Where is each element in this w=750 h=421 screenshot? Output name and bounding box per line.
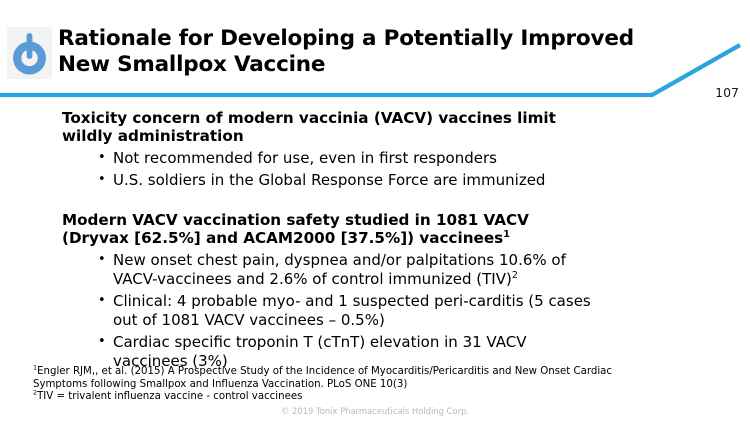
content-block-toxicity: Toxicity concern of modern vaccinia (VAC…	[62, 110, 702, 190]
block-heading: Toxicity concern of modern vaccinia (VAC…	[62, 110, 702, 145]
list-item: U.S. soldiers in the Global Response For…	[98, 171, 702, 190]
slide-header: Rationale for Developing a Potentially I…	[0, 0, 750, 108]
page-title: Rationale for Developing a Potentially I…	[58, 26, 658, 78]
list-item: Not recommended for use, even in first r…	[98, 149, 702, 168]
footnote-1: 1Engler RJM,, et al. (2015) A Prospectiv…	[33, 366, 723, 391]
page-number: 107	[715, 85, 739, 100]
list-item: Clinical: 4 probable myo- and 1 suspecte…	[98, 292, 702, 330]
block-spacer	[62, 193, 702, 212]
list-item: New onset chest pain, dyspnea and/or pal…	[98, 251, 702, 289]
slide: Rationale for Developing a Potentially I…	[0, 0, 750, 421]
content-block-safety-study: Modern VACV vaccination safety studied i…	[62, 212, 702, 371]
bullet-list: Not recommended for use, even in first r…	[62, 149, 702, 190]
block-heading: Modern VACV vaccination safety studied i…	[62, 212, 702, 247]
slide-body: Toxicity concern of modern vaccinia (VAC…	[62, 110, 702, 374]
bullet-list: New onset chest pain, dyspnea and/or pal…	[62, 251, 702, 371]
tonix-power-button-logo-icon	[7, 27, 52, 79]
copyright-notice: © 2019 Tonix Pharmaceuticals Holding Cor…	[0, 406, 750, 416]
footnotes: 1Engler RJM,, et al. (2015) A Prospectiv…	[33, 366, 723, 404]
footnote-2: 2TIV = trivalent influenza vaccine - con…	[33, 391, 723, 404]
